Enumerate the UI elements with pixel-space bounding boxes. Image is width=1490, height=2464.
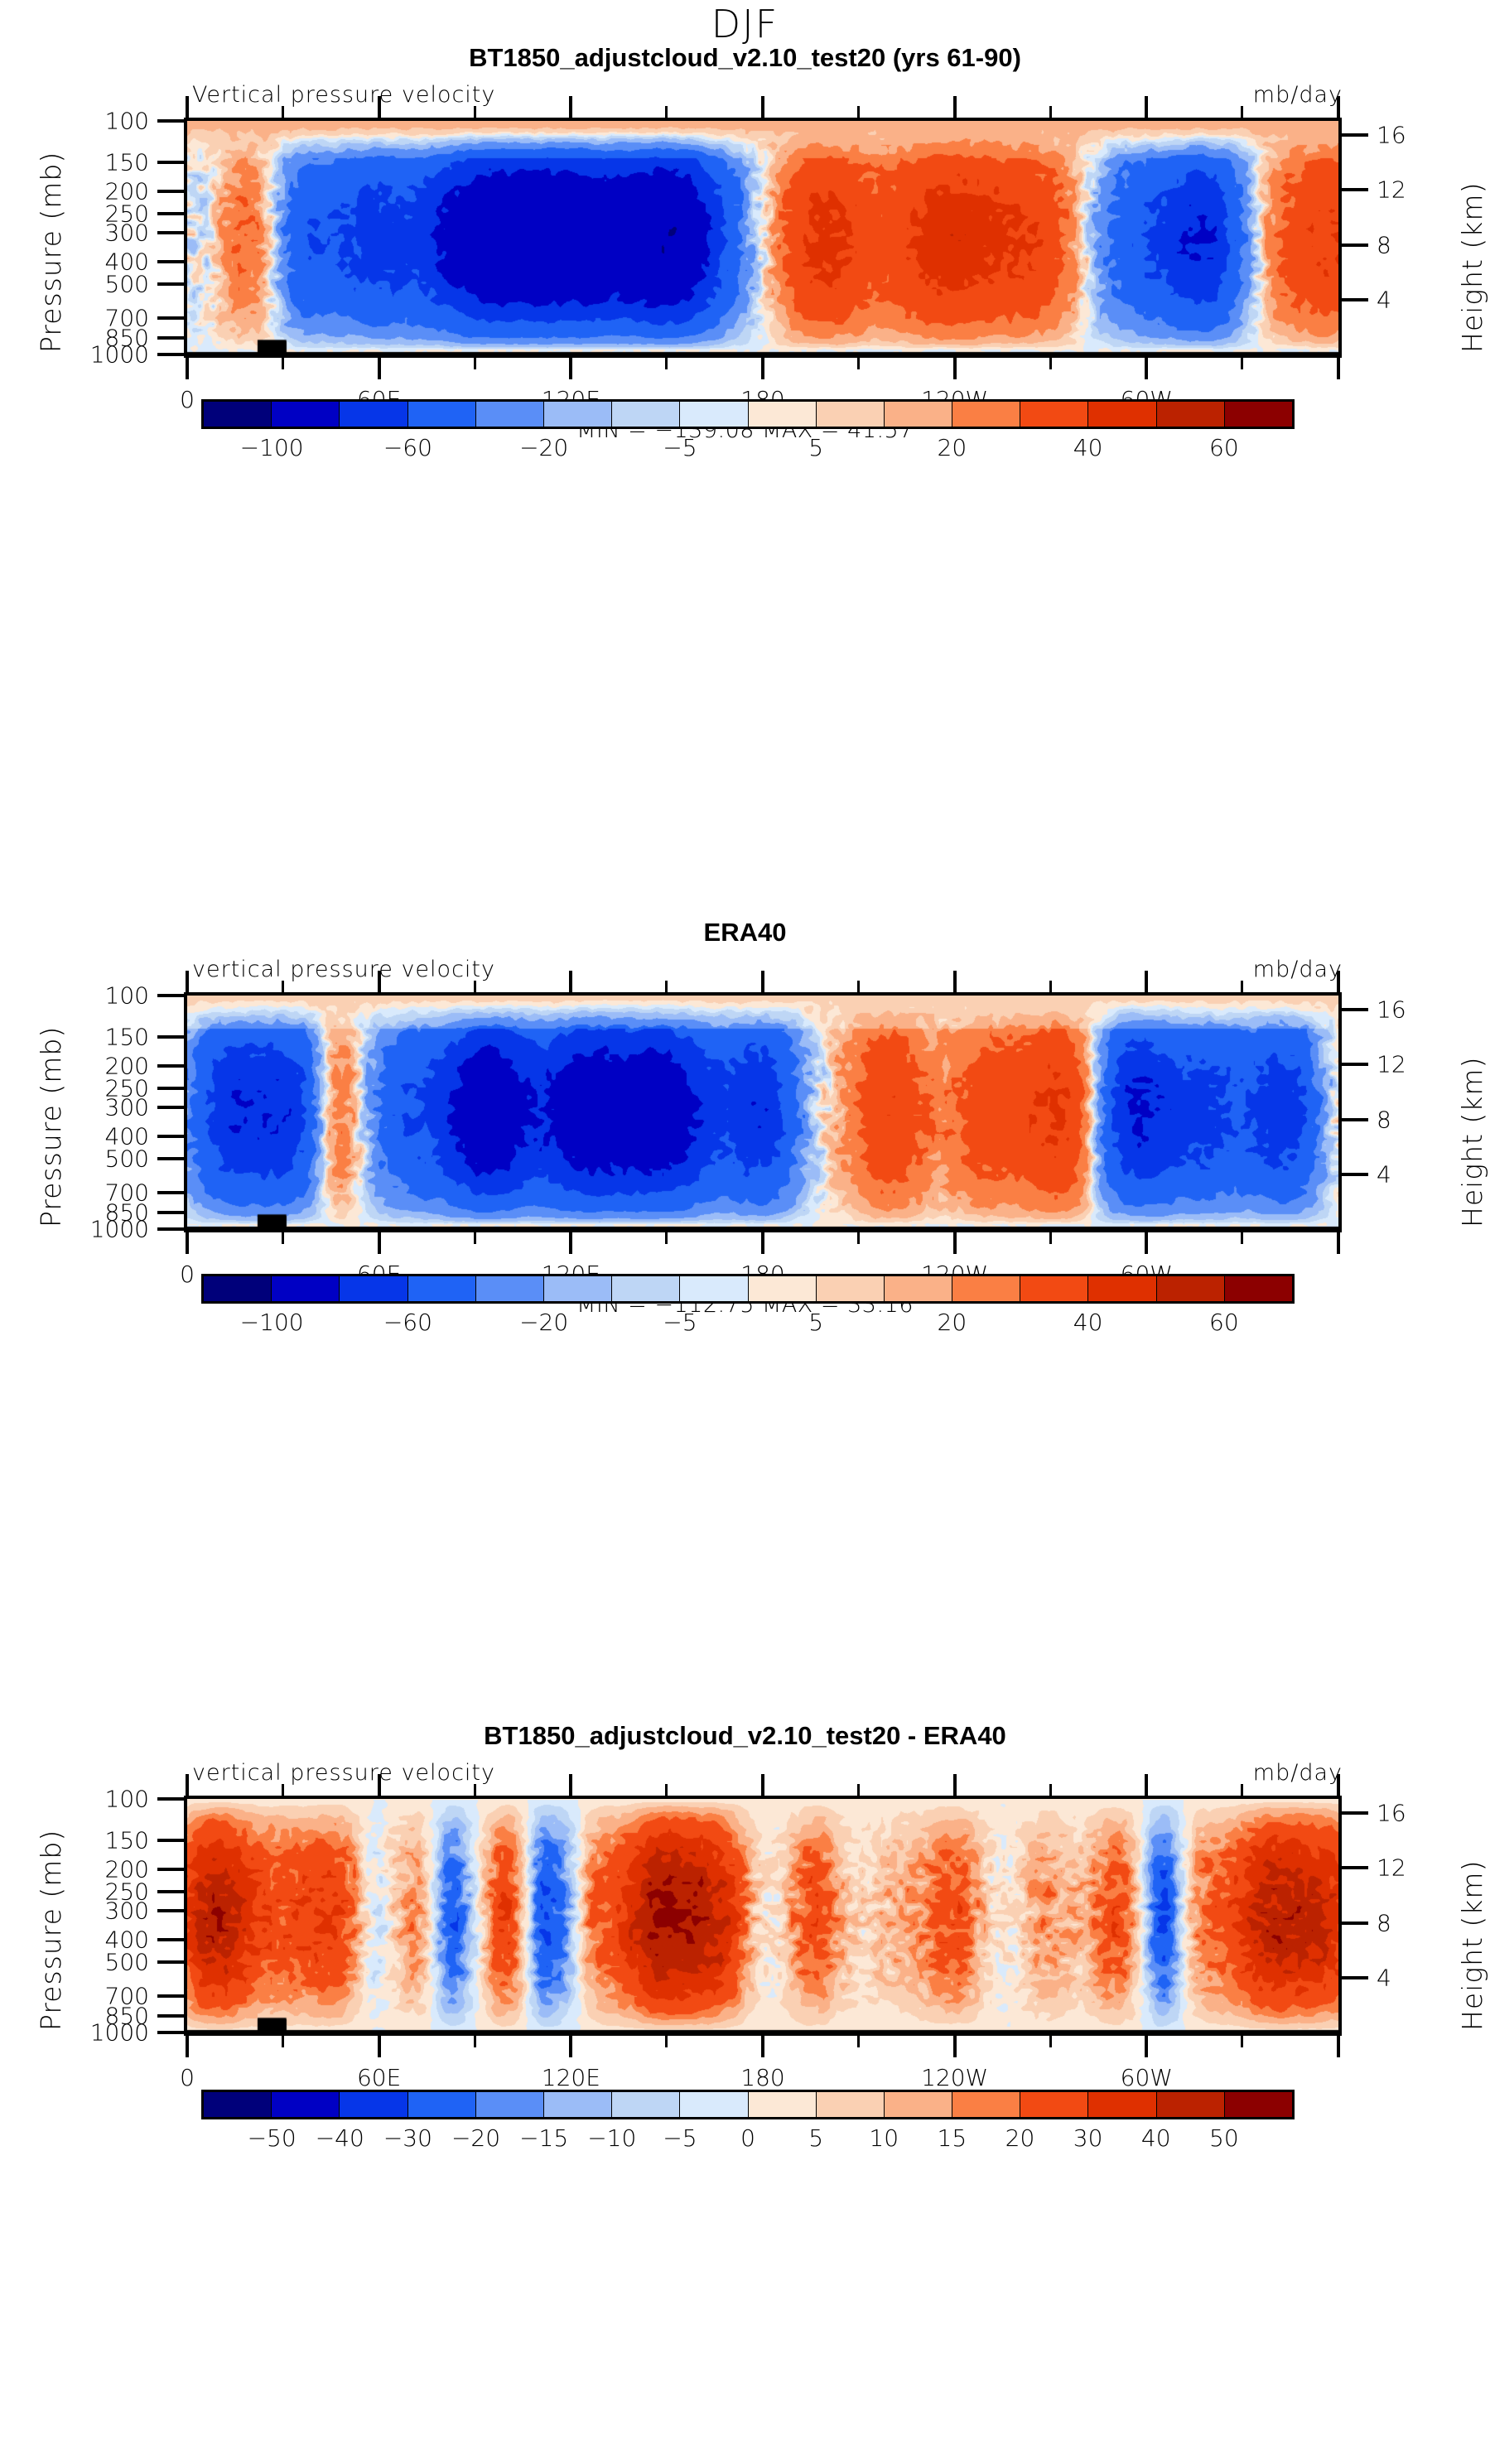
x-tick-mark-bottom (1337, 2036, 1340, 2057)
x-tick-label: 120E (542, 2064, 600, 2091)
y-tick-mark-right (1342, 1063, 1368, 1066)
plot-area[interactable] (184, 1796, 1342, 2036)
x-tick-mark-top (665, 1784, 668, 1796)
y-tick-mark-left (157, 161, 184, 164)
x-tick-mark-bottom (761, 2036, 764, 2057)
colorbar-cell (885, 2092, 952, 2117)
colorbar-cell (1157, 2092, 1225, 2117)
y-tick-label-right: 16 (1377, 996, 1406, 1024)
x-tick-mark-top (665, 981, 668, 992)
y-tick-mark-right (1342, 188, 1368, 191)
colorbar[interactable] (201, 2090, 1295, 2119)
colorbar[interactable] (201, 1274, 1295, 1304)
colorbar-tick-label: −10 (587, 2124, 636, 2152)
x-tick-mark-top (378, 971, 381, 992)
x-tick-mark-bottom (1241, 1232, 1243, 1244)
x-tick-mark-bottom (378, 2036, 381, 2057)
colorbar-cell (408, 1276, 476, 1301)
x-tick-mark-top (282, 981, 284, 992)
x-tick-mark-top (1337, 971, 1340, 992)
contour-field (187, 1799, 1338, 2032)
x-tick-mark-bottom (1049, 1232, 1052, 1244)
x-tick-mark-top (569, 96, 572, 118)
y-tick-mark-left (157, 119, 184, 123)
field-label: Vertical pressure velocity (192, 82, 495, 108)
y-tick-label-left: 100 (0, 108, 149, 135)
x-tick-label: 120W (921, 2064, 988, 2091)
colorbar-cell (544, 402, 612, 427)
y-tick-mark-left (157, 190, 184, 193)
x-tick-mark-top (1241, 106, 1243, 118)
y-tick-mark-right (1342, 1922, 1368, 1925)
colorbar-cell (817, 402, 885, 427)
y-tick-label-left: 100 (0, 982, 149, 1010)
colorbar-tick-label: 60 (1209, 434, 1239, 461)
colorbar-cell (680, 2092, 748, 2117)
y-tick-mark-left (157, 353, 184, 356)
colorbar-tick-label: −5 (663, 434, 697, 461)
colorbar-cell (749, 1276, 817, 1301)
x-tick-mark-bottom (953, 2036, 957, 2057)
y-tick-mark-right (1342, 244, 1368, 247)
colorbar-cell (544, 2092, 612, 2117)
x-tick-mark-bottom (665, 2036, 668, 2047)
colorbar-tick-label: −100 (240, 1309, 304, 1336)
x-tick-mark-bottom (569, 1232, 572, 1254)
colorbar-tick-label: 50 (1209, 2124, 1239, 2152)
y-axis-title-left: Pressure (mb) (35, 1830, 67, 2031)
colorbar-cell (612, 402, 680, 427)
y-tick-mark-left (157, 282, 184, 286)
y-tick-label-right: 4 (1377, 1160, 1391, 1188)
y-tick-label-left: 150 (0, 1023, 149, 1050)
x-tick-mark-top (569, 1774, 572, 1796)
colorbar-cell (204, 402, 272, 427)
y-tick-mark-left (157, 1890, 184, 1893)
x-tick-label: 60E (357, 2064, 401, 2091)
x-tick-mark-bottom (857, 1232, 860, 1244)
y-tick-mark-left (157, 1064, 184, 1068)
y-tick-label-right: 16 (1377, 1800, 1406, 1827)
colorbar-tick-label: −30 (383, 2124, 432, 2152)
plot-area[interactable] (184, 118, 1342, 358)
x-tick-mark-top (186, 96, 189, 118)
x-tick-mark-top (1337, 1774, 1340, 1796)
y-axis-title-left: Pressure (mb) (35, 152, 67, 353)
y-tick-mark-right (1342, 133, 1368, 137)
y-tick-label-right: 8 (1377, 231, 1391, 258)
x-tick-mark-bottom (1049, 358, 1052, 369)
colorbar-tick-label: −100 (240, 434, 304, 461)
y-tick-mark-left (157, 1135, 184, 1138)
x-tick-mark-bottom (761, 358, 764, 379)
y-tick-label-right: 8 (1377, 1909, 1391, 1936)
y-tick-label-left: 1000 (0, 2019, 149, 2047)
y-tick-label-left: 500 (0, 1145, 149, 1173)
colorbar-cell (680, 1276, 748, 1301)
x-tick-label: 60W (1121, 2064, 1173, 2091)
y-tick-label-left: 300 (0, 1897, 149, 1924)
y-tick-mark-left (157, 1035, 184, 1039)
colorbar-cell (749, 402, 817, 427)
x-tick-label: 0 (180, 1261, 195, 1288)
x-tick-mark-bottom (761, 1232, 764, 1254)
y-tick-mark-right (1342, 298, 1368, 301)
colorbar[interactable] (201, 399, 1295, 429)
colorbar-cell (612, 2092, 680, 2117)
x-tick-mark-bottom (474, 358, 476, 369)
x-tick-mark-top (1145, 971, 1148, 992)
colorbar-cell (408, 2092, 476, 2117)
colorbar-cell (612, 1276, 680, 1301)
panel-title: BT1850_adjustcloud_v2.10_test20 - ERA40 (0, 1721, 1490, 1751)
x-tick-mark-top (569, 971, 572, 992)
colorbar-cell (272, 402, 340, 427)
y-tick-mark-right (1342, 1866, 1368, 1869)
x-tick-mark-top (282, 106, 284, 118)
y-tick-label-right: 4 (1377, 1964, 1391, 1991)
y-tick-label-left: 300 (0, 1093, 149, 1121)
x-tick-mark-bottom (1049, 2036, 1052, 2047)
colorbar-cell (1088, 1276, 1156, 1301)
y-tick-mark-left (157, 2031, 184, 2034)
colorbar-cell (340, 1276, 407, 1301)
y-tick-label-right: 12 (1377, 1051, 1406, 1078)
x-tick-mark-bottom (474, 2036, 476, 2047)
colorbar-cell (1088, 2092, 1156, 2117)
x-tick-mark-top (186, 971, 189, 992)
field-label: vertical pressure velocity (192, 957, 495, 982)
contour-field (187, 996, 1338, 1229)
colorbar-cell (204, 2092, 272, 2117)
y-tick-label-right: 16 (1377, 122, 1406, 149)
x-tick-mark-top (953, 971, 957, 992)
figure-super-title: DJF (0, 2, 1490, 46)
colorbar-tick-label: −60 (383, 434, 432, 461)
y-tick-mark-left (157, 1839, 184, 1842)
colorbar-cell (817, 2092, 885, 2117)
x-tick-mark-bottom (953, 358, 957, 379)
colorbar-cell (1088, 402, 1156, 427)
colorbar-tick-label: −20 (519, 1309, 568, 1336)
x-tick-mark-top (953, 1774, 957, 1796)
x-tick-mark-top (1337, 96, 1340, 118)
unit-label: mb/day (1253, 82, 1343, 108)
colorbar-tick-label: −5 (663, 2124, 697, 2152)
chart-panel-panel-diff: BT1850_adjustcloud_v2.10_test20 - ERA40v… (0, 1721, 1490, 2197)
y-axis-title-right: Height (km) (1456, 1860, 1488, 2031)
y-axis-title-right: Height (km) (1456, 1057, 1488, 1227)
x-tick-mark-top (282, 1784, 284, 1796)
x-tick-mark-top (1145, 1774, 1148, 1796)
colorbar-tick-label: −5 (663, 1309, 697, 1336)
x-tick-mark-bottom (282, 1232, 284, 1244)
colorbar-cell (340, 2092, 407, 2117)
x-tick-mark-bottom (1337, 358, 1340, 379)
panel-title: ERA40 (0, 918, 1490, 948)
colorbar-cell (1225, 1276, 1292, 1301)
colorbar-tick-label: 5 (808, 434, 823, 461)
colorbar-cell (749, 2092, 817, 2117)
y-tick-mark-left (157, 1909, 184, 1912)
y-tick-mark-left (157, 1191, 184, 1194)
colorbar-cell (476, 1276, 544, 1301)
x-tick-mark-top (857, 1784, 860, 1796)
colorbar-tick-label: −60 (383, 1309, 432, 1336)
x-tick-mark-bottom (1337, 1232, 1340, 1254)
y-tick-label-right: 8 (1377, 1106, 1391, 1133)
unit-label: mb/day (1253, 1760, 1343, 1786)
x-tick-mark-bottom (569, 358, 572, 379)
x-tick-mark-top (474, 981, 476, 992)
unit-label: mb/day (1253, 957, 1343, 982)
x-tick-mark-bottom (1145, 1232, 1148, 1254)
y-tick-mark-left (157, 994, 184, 997)
x-tick-mark-bottom (1241, 2036, 1243, 2047)
x-tick-mark-top (953, 96, 957, 118)
y-tick-label-left: 150 (0, 148, 149, 176)
x-tick-mark-bottom (1241, 358, 1243, 369)
y-tick-mark-right (1342, 1008, 1368, 1011)
x-tick-mark-bottom (474, 1232, 476, 1244)
y-tick-mark-left (157, 316, 184, 320)
x-tick-mark-top (665, 106, 668, 118)
panel-title: BT1850_adjustcloud_v2.10_test20 (yrs 61-… (0, 43, 1490, 73)
x-tick-mark-top (857, 106, 860, 118)
x-tick-mark-top (761, 96, 764, 118)
colorbar-cell (952, 402, 1020, 427)
y-tick-label-left: 500 (0, 271, 149, 298)
colorbar-tick-label: −15 (519, 2124, 568, 2152)
y-tick-mark-left (157, 1868, 184, 1871)
colorbar-cell (680, 402, 748, 427)
chart-panel-panel-obs: ERA40vertical pressure velocitymb/day100… (0, 918, 1490, 1381)
y-tick-mark-left (157, 260, 184, 263)
y-tick-mark-right (1342, 1173, 1368, 1176)
colorbar-cell (1020, 2092, 1088, 2117)
y-axis-title-right: Height (km) (1456, 182, 1488, 353)
x-tick-mark-top (857, 981, 860, 992)
y-tick-mark-left (157, 212, 184, 215)
x-tick-mark-bottom (569, 2036, 572, 2057)
y-tick-label-left: 1000 (0, 1216, 149, 1243)
x-tick-mark-top (1241, 981, 1243, 992)
colorbar-cell (1020, 1276, 1088, 1301)
y-tick-label-right: 12 (1377, 1854, 1406, 1882)
colorbar-tick-label: 5 (808, 2124, 823, 2152)
y-tick-mark-left (157, 1227, 184, 1231)
colorbar-cell (952, 1276, 1020, 1301)
x-tick-label: 0 (180, 386, 195, 413)
colorbar-tick-label: 40 (1073, 434, 1103, 461)
x-tick-mark-top (761, 971, 764, 992)
x-tick-mark-bottom (857, 358, 860, 369)
colorbar-tick-label: 40 (1073, 1309, 1103, 1336)
y-tick-mark-left (157, 1797, 184, 1801)
x-tick-mark-top (474, 1784, 476, 1796)
y-tick-label-right: 4 (1377, 286, 1391, 313)
y-tick-mark-left (157, 336, 184, 340)
colorbar-tick-label: 20 (938, 1309, 967, 1336)
y-tick-mark-left (157, 231, 184, 234)
x-tick-mark-top (378, 96, 381, 118)
colorbar-tick-label: 10 (869, 2124, 899, 2152)
x-tick-mark-top (1049, 981, 1052, 992)
x-tick-mark-bottom (857, 2036, 860, 2047)
colorbar-cell (1157, 402, 1225, 427)
colorbar-tick-label: −20 (451, 2124, 500, 2152)
x-tick-mark-top (1241, 1784, 1243, 1796)
colorbar-cell (817, 1276, 885, 1301)
y-tick-mark-right (1342, 1118, 1368, 1121)
x-tick-label: 180 (740, 2064, 784, 2091)
y-tick-label-left: 500 (0, 1949, 149, 1976)
y-tick-mark-left (157, 1994, 184, 1998)
y-tick-mark-left (157, 2014, 184, 2018)
colorbar-tick-label: 30 (1073, 2124, 1103, 2152)
colorbar-cell (272, 1276, 340, 1301)
chart-panel-panel-model: BT1850_adjustcloud_v2.10_test20 (yrs 61-… (0, 43, 1490, 507)
colorbar-cell (885, 1276, 952, 1301)
y-tick-mark-left (157, 1087, 184, 1090)
colorbar-tick-label: −20 (519, 434, 568, 461)
x-tick-mark-bottom (282, 358, 284, 369)
y-tick-mark-left (157, 1211, 184, 1214)
x-tick-mark-bottom (1145, 2036, 1148, 2057)
y-tick-mark-right (1342, 1811, 1368, 1815)
y-tick-mark-left (157, 1157, 184, 1160)
x-tick-mark-bottom (953, 1232, 957, 1254)
colorbar-cell (952, 2092, 1020, 2117)
colorbar-tick-label: −50 (248, 2124, 297, 2152)
colorbar-tick-label: 60 (1209, 1309, 1239, 1336)
x-tick-mark-top (1049, 1784, 1052, 1796)
x-tick-mark-bottom (378, 358, 381, 379)
x-tick-mark-bottom (282, 2036, 284, 2047)
colorbar-cell (885, 402, 952, 427)
x-tick-mark-top (474, 106, 476, 118)
colorbar-tick-label: 40 (1141, 2124, 1171, 2152)
x-tick-mark-bottom (1145, 358, 1148, 379)
x-tick-mark-bottom (665, 358, 668, 369)
x-tick-mark-top (761, 1774, 764, 1796)
colorbar-cell (1225, 402, 1292, 427)
y-tick-label-left: 150 (0, 1826, 149, 1854)
colorbar-tick-label: 0 (740, 2124, 755, 2152)
y-axis-title-left: Pressure (mb) (35, 1026, 67, 1227)
colorbar-cell (544, 1276, 612, 1301)
y-tick-mark-left (157, 1106, 184, 1109)
x-tick-mark-top (1145, 96, 1148, 118)
colorbar-tick-label: 15 (938, 2124, 967, 2152)
colorbar-cell (1225, 2092, 1292, 2117)
colorbar-cell (408, 402, 476, 427)
colorbar-cell (340, 402, 407, 427)
colorbar-tick-label: 5 (808, 1309, 823, 1336)
colorbar-tick-label: −40 (316, 2124, 364, 2152)
contour-field (187, 121, 1338, 354)
x-tick-mark-bottom (665, 1232, 668, 1244)
colorbar-cell (204, 1276, 272, 1301)
y-tick-mark-left (157, 1960, 184, 1964)
field-label: vertical pressure velocity (192, 1760, 495, 1786)
colorbar-cell (272, 2092, 340, 2117)
plot-area[interactable] (184, 992, 1342, 1232)
y-tick-mark-left (157, 1938, 184, 1941)
x-tick-label: 0 (180, 2064, 195, 2091)
colorbar-cell (476, 2092, 544, 2117)
y-tick-label-left: 1000 (0, 341, 149, 369)
x-tick-mark-top (378, 1774, 381, 1796)
x-tick-mark-top (186, 1774, 189, 1796)
colorbar-tick-label: 20 (1005, 2124, 1035, 2152)
colorbar-cell (1157, 1276, 1225, 1301)
x-tick-mark-bottom (378, 1232, 381, 1254)
x-tick-mark-bottom (186, 1232, 189, 1254)
y-tick-mark-right (1342, 1976, 1368, 1979)
x-tick-mark-bottom (186, 2036, 189, 2057)
colorbar-tick-label: 20 (938, 434, 967, 461)
y-tick-label-right: 12 (1377, 176, 1406, 204)
y-tick-label-left: 100 (0, 1786, 149, 1813)
colorbar-cell (1020, 402, 1088, 427)
x-tick-mark-top (1049, 106, 1052, 118)
y-tick-label-left: 300 (0, 219, 149, 246)
colorbar-cell (476, 402, 544, 427)
x-tick-mark-bottom (186, 358, 189, 379)
